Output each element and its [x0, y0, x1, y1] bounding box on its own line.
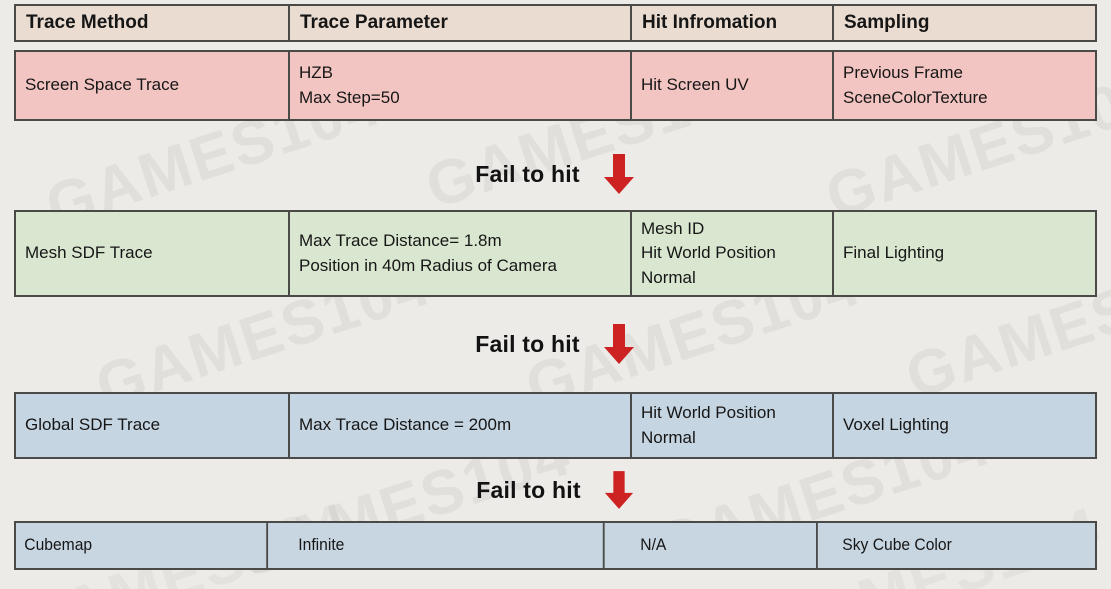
table-row-mesh-sdf-trace: Mesh SDF Trace Max Trace Distance= 1.8m …	[14, 210, 1097, 297]
cell-trace-parameter: Max Trace Distance= 1.8m Position in 40m…	[290, 212, 632, 295]
connector-fail-to-hit-3: Fail to hit	[0, 466, 1111, 514]
cell-trace-parameter: Infinite	[290, 523, 605, 568]
table-header-row: Trace Method Trace Parameter Hit Infroma…	[14, 4, 1097, 42]
cell-trace-parameter: Max Trace Distance = 200m	[290, 394, 632, 457]
cell-hit-information: Mesh ID Hit World Position Normal	[632, 212, 834, 295]
cell-trace-method: Cubemap	[16, 523, 268, 568]
cell-trace-parameter: HZB Max Step=50	[290, 52, 632, 119]
cell-trace-method: Screen Space Trace	[16, 52, 290, 119]
cell-trace-method: Mesh SDF Trace	[16, 212, 290, 295]
column-header-sampling: Sampling	[834, 6, 1095, 40]
connector-label: Fail to hit	[475, 331, 579, 358]
trace-fallback-flow-diagram: Trace Method Trace Parameter Hit Infroma…	[0, 0, 1111, 589]
cell-hit-information: Hit World Position Normal	[632, 394, 834, 457]
table-row-cubemap: Cubemap Infinite N/A Sky Cube Color	[14, 521, 1097, 570]
cell-trace-method: Global SDF Trace	[16, 394, 290, 457]
cell-sampling: Sky Cube Color	[834, 523, 1074, 568]
connector-label: Fail to hit	[475, 161, 579, 188]
column-header-trace-parameter: Trace Parameter	[290, 6, 632, 40]
cell-sampling: Voxel Lighting	[834, 394, 1095, 457]
cell-hit-information: Hit Screen UV	[632, 52, 834, 119]
connector-fail-to-hit-2: Fail to hit	[0, 318, 1111, 370]
down-arrow-icon	[603, 469, 635, 511]
column-header-hit-information: Hit Infromation	[632, 6, 834, 40]
cell-sampling: Previous Frame SceneColorTexture	[834, 52, 1095, 119]
table-row-global-sdf-trace: Global SDF Trace Max Trace Distance = 20…	[14, 392, 1097, 459]
connector-fail-to-hit-1: Fail to hit	[0, 148, 1111, 200]
cell-sampling: Final Lighting	[834, 212, 1095, 295]
table-row-screen-space-trace: Screen Space Trace HZB Max Step=50 Hit S…	[14, 50, 1097, 121]
down-arrow-icon	[602, 322, 636, 366]
down-arrow-icon	[602, 152, 636, 196]
column-header-trace-method: Trace Method	[16, 6, 290, 40]
cell-hit-information: N/A	[632, 523, 818, 568]
connector-label: Fail to hit	[476, 477, 580, 504]
